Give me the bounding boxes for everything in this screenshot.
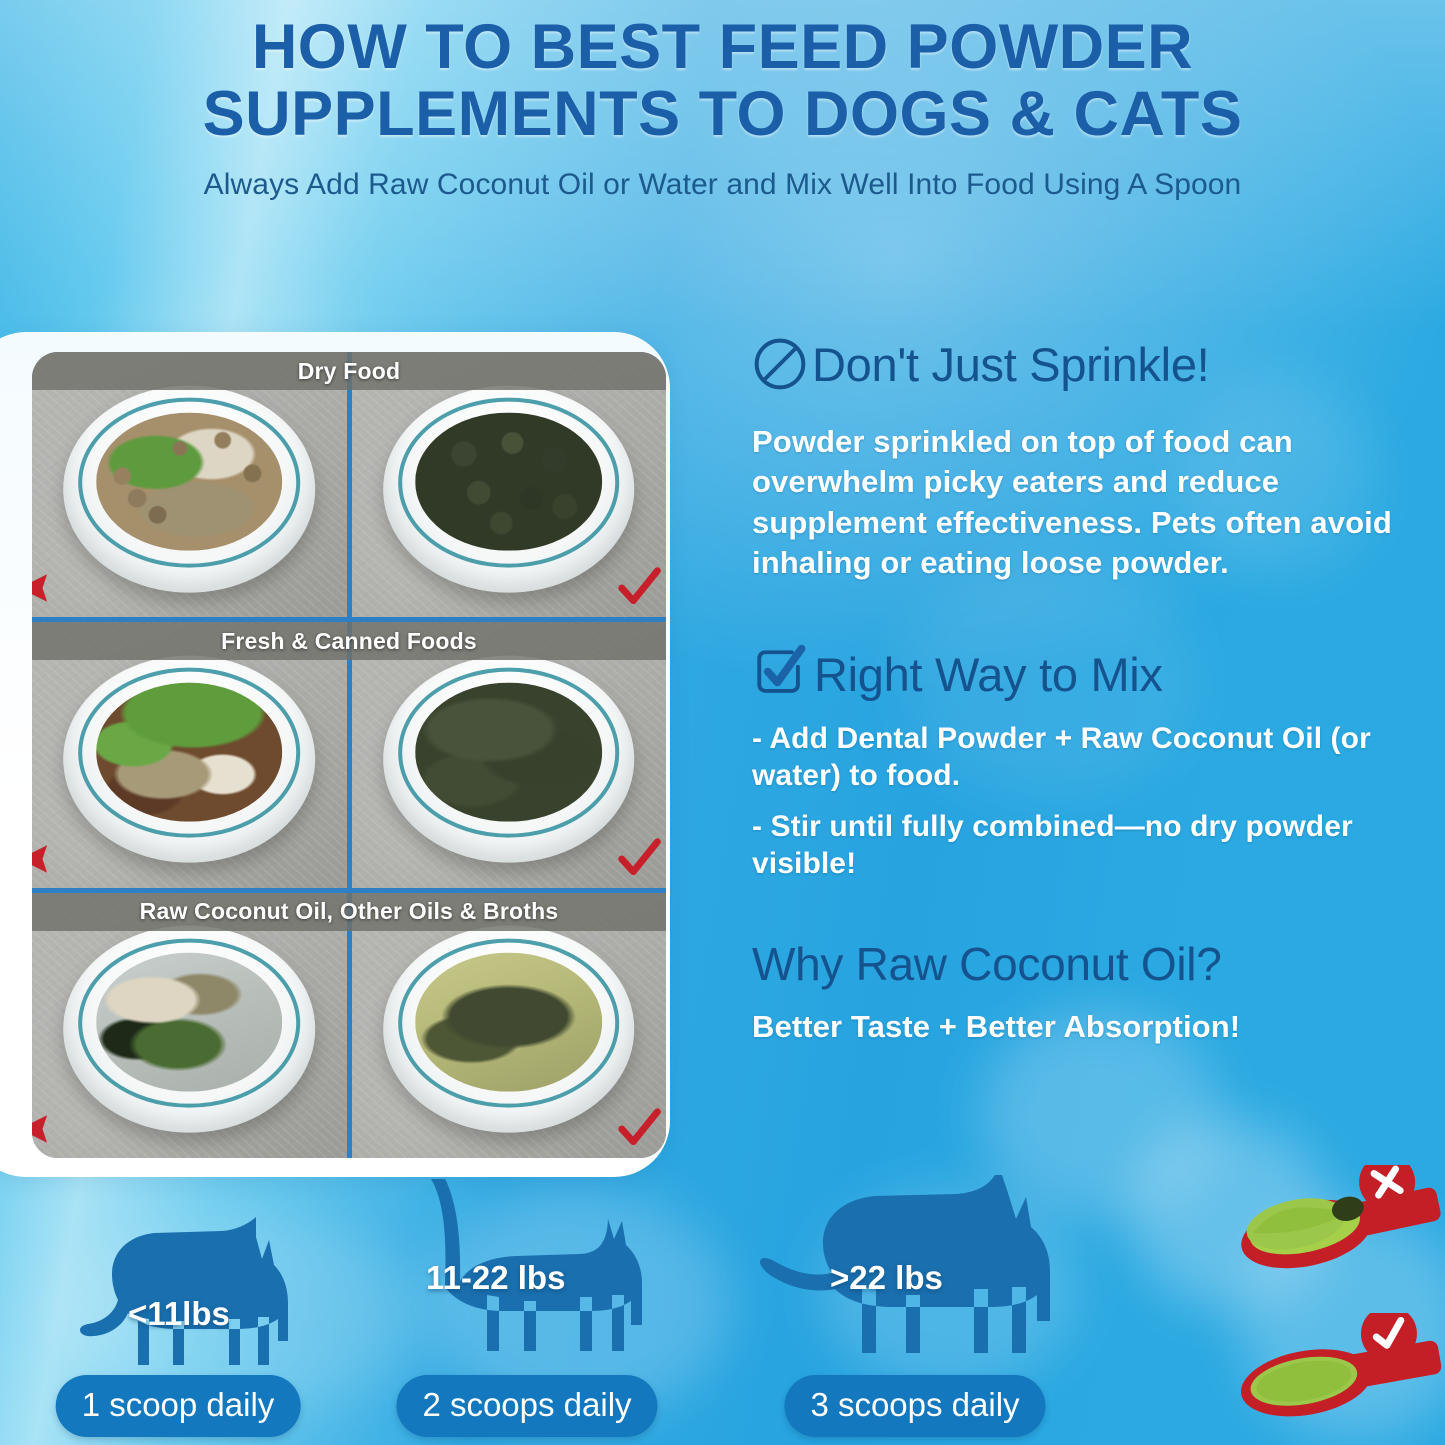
spoon-comparison [1215,1155,1445,1445]
photo-comparison-grid: Dry Food Fresh & Canned Foods [32,352,666,1158]
page-title: HOW TO BEST FEED POWDER SUPPLEMENTS TO D… [0,0,1445,148]
dose-pill-large: 3 scoops daily [784,1375,1045,1437]
red-check-icon [616,565,662,611]
spoon-level [1233,1313,1445,1433]
spoon-heaping [1233,1165,1445,1285]
weight-label-small: <11lbs [128,1295,230,1333]
row-label-fresh-canned: Fresh & Canned Foods [32,622,666,660]
grid-row-fresh-canned: Fresh & Canned Foods [32,622,666,887]
weight-label-large: >22 lbs [830,1259,943,1297]
dose-pill-small: 1 scoop daily [56,1375,301,1437]
sprinkle-heading-text: Don't Just Sprinkle! [812,341,1209,388]
food-fresh-unmixed [96,683,282,822]
food-fresh-mixed [416,683,602,822]
page-subtitle: Always Add Raw Coconut Oil or Water and … [0,168,1445,202]
red-x-arrow-icon [32,565,54,611]
red-x-arrow-icon [32,1106,54,1152]
row-label-oils-broths: Raw Coconut Oil, Other Oils & Broths [32,893,666,931]
dosage-item-large: >22 lbs 3 scoops daily [740,1173,1090,1445]
section-heading-sprinkle: Don't Just Sprinkle! [752,336,1424,392]
bowl [383,926,635,1133]
photo-cell-mixed [352,893,667,1158]
food-oil-unmixed [96,953,282,1092]
grid-row-dry-food: Dry Food [32,352,666,617]
spoon-check-icon [1233,1313,1445,1433]
food-kibble-unmixed [96,412,282,551]
spoon-x-icon [1233,1165,1445,1285]
red-check-icon [616,836,662,882]
checkbox-check-icon [752,645,810,703]
photo-cell-mixed [352,352,667,617]
photo-cell-mixed [352,622,667,887]
row-label-dry-food: Dry Food [32,352,666,390]
food-broth-mixed [416,953,602,1092]
section-why-coconut-oil: Why Raw Coconut Oil? Better Taste + Bett… [752,941,1424,1047]
dosage-item-small: <11lbs 1 scoop daily [18,1195,338,1445]
section-heading-mix: Right Way to Mix [752,645,1424,703]
why-heading-text: Why Raw Coconut Oil? [752,941,1222,987]
red-x-arrow-icon [32,836,54,882]
bowl [383,656,635,863]
why-body-text: Better Taste + Better Absorption! [752,1007,1424,1047]
photo-cell-unmixed [32,352,347,617]
photo-cell-unmixed [32,893,347,1158]
grid-row-oils-broths: Raw Coconut Oil, Other Oils & Broths [32,893,666,1158]
bowl [63,926,315,1133]
no-entry-icon [752,336,808,392]
right-content-column: Don't Just Sprinkle! Powder sprinkled on… [752,336,1424,1047]
mix-bullet-1: - Add Dental Powder + Raw Coconut Oil (o… [752,721,1424,794]
bowl [383,385,635,592]
sprinkle-body-text: Powder sprinkled on top of food can over… [752,422,1424,583]
why-heading: Why Raw Coconut Oil? [752,941,1424,987]
bowl [63,656,315,863]
red-check-icon [616,1106,662,1152]
mix-heading-text: Right Way to Mix [814,651,1163,698]
dosage-row: <11lbs 1 scoop daily 11-22 lbs 2 scoops … [0,1173,1230,1445]
bowl [63,385,315,592]
photo-cell-unmixed [32,622,347,887]
weight-label-medium: 11-22 lbs [426,1259,565,1297]
dose-pill-medium: 2 scoops daily [396,1375,657,1437]
header: HOW TO BEST FEED POWDER SUPPLEMENTS TO D… [0,0,1445,300]
mix-bullets: - Add Dental Powder + Raw Coconut Oil (o… [752,721,1424,882]
food-kibble-mixed [416,412,602,551]
mix-bullet-2: - Stir until fully combined—no dry powde… [752,809,1424,882]
dosage-item-medium: 11-22 lbs 2 scoops daily [362,1173,692,1445]
